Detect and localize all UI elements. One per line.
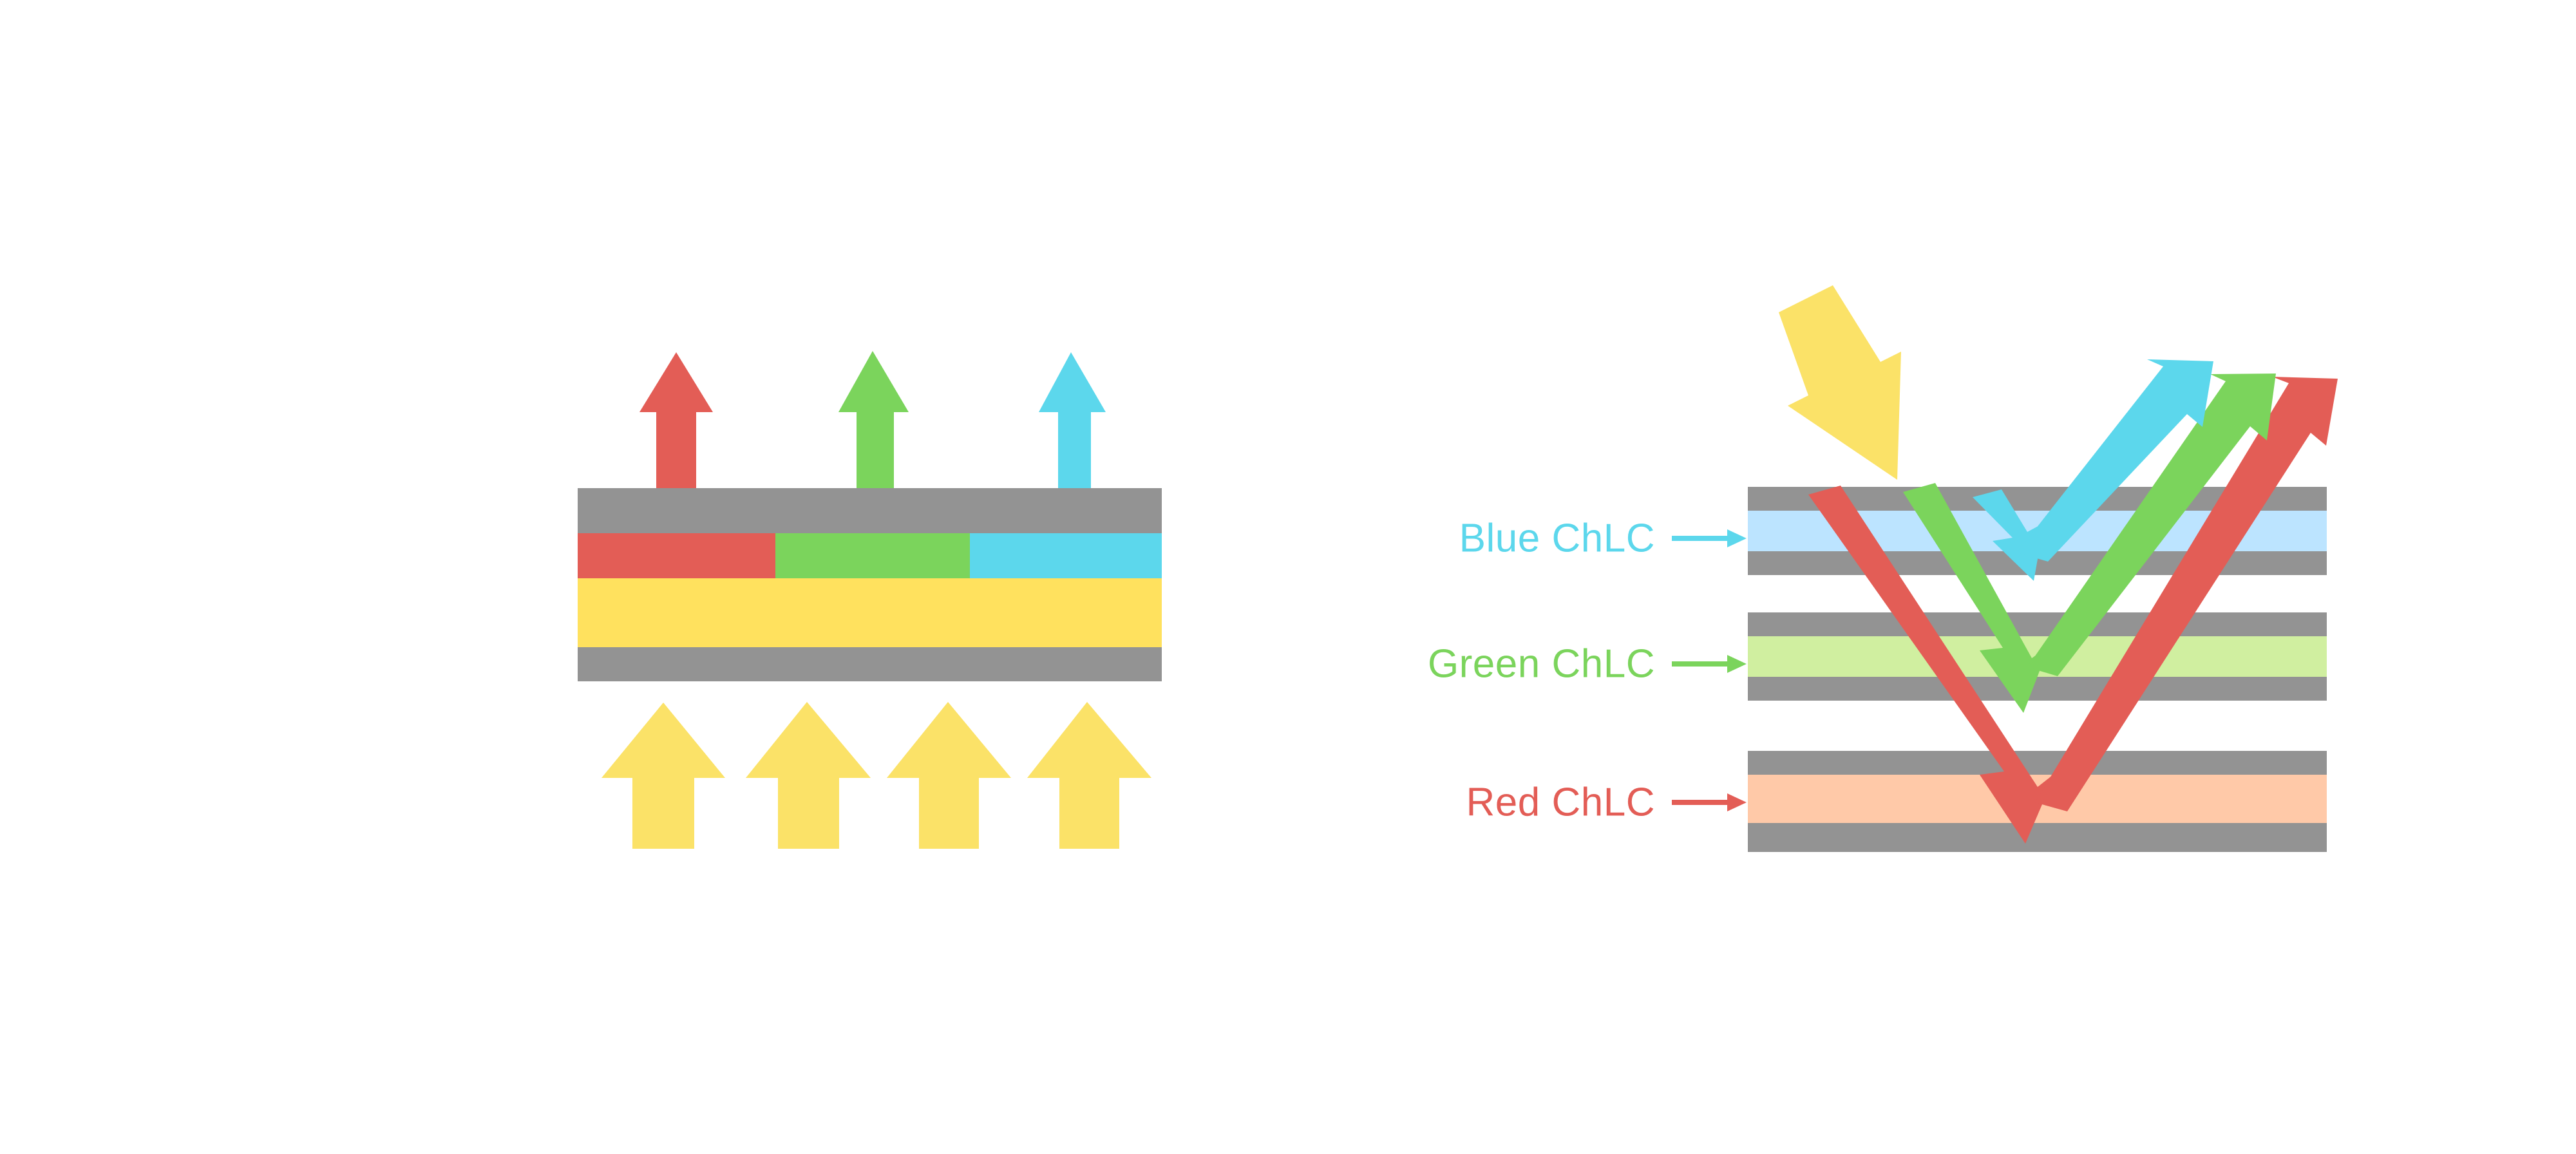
green-subpixel — [775, 533, 970, 578]
label-green-chlc-text: Green ChLC — [1428, 641, 1655, 686]
red-group-bottom-electrode — [1748, 823, 2327, 852]
red-subpixel — [578, 533, 775, 578]
blue-subpixel — [970, 533, 1162, 578]
diagram-canvas: Blue ChLC Green ChLC Red ChLC — [0, 0, 2576, 1154]
label-red-chlc-text: Red ChLC — [1466, 780, 1655, 824]
label-blue-chlc-text: Blue ChLC — [1459, 516, 1655, 560]
top-electrode-layer — [578, 488, 1162, 533]
green-group-bottom-electrode — [1748, 677, 2327, 701]
rgb-subpixel-layer — [578, 533, 1162, 578]
green-group-top-electrode — [1748, 612, 2327, 636]
red-group-top-electrode — [1748, 751, 2327, 775]
backlight-layer — [578, 578, 1162, 647]
bottom-electrode-layer — [578, 647, 1162, 681]
left-stack-layers — [578, 488, 1162, 681]
